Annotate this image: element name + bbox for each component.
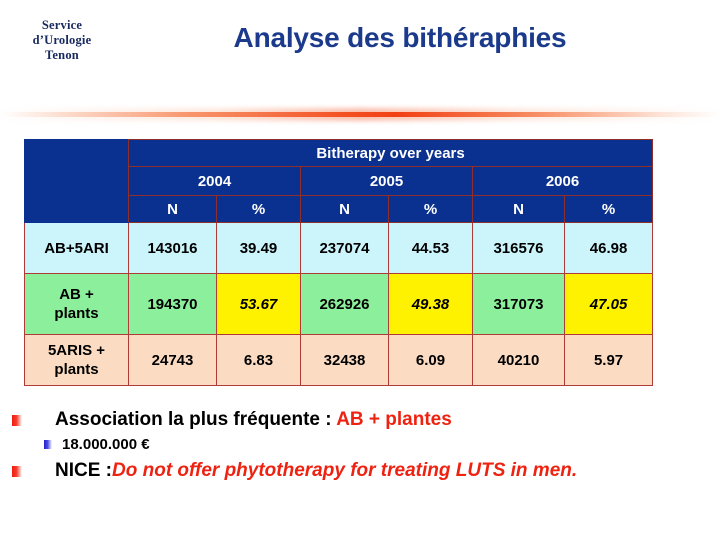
bullet-list: Association la plus fréquente : AB + pla… bbox=[0, 408, 720, 483]
row-label-ab-plants: AB + plants bbox=[25, 274, 129, 335]
bullet-text-association-plain: Association la plus fréquente : bbox=[55, 409, 336, 430]
cell-5arisplants-2004-n: 24743 bbox=[129, 335, 217, 386]
bullet-square-icon bbox=[12, 415, 22, 426]
cell-abplants-2004-pct: 53.67 bbox=[217, 274, 301, 335]
cell-ab5ari-2006-pct: 46.98 bbox=[565, 223, 653, 274]
list-item: 18.000.000 € bbox=[44, 435, 720, 454]
row-label-line-1: AB + bbox=[25, 285, 128, 304]
slide-header: Service d’Urologie Tenon Analyse des bit… bbox=[0, 0, 720, 96]
logo-line-2: d’Urologie bbox=[12, 33, 112, 48]
bullet-text-nice-plain: NICE : bbox=[55, 460, 112, 481]
bullet-text-nice-accent: Do not offer phytotherapy for treating L… bbox=[112, 460, 577, 481]
cell-5arisplants-2006-pct: 5.97 bbox=[565, 335, 653, 386]
row-label-line-2: plants bbox=[25, 304, 128, 323]
cell-abplants-2005-pct: 49.38 bbox=[389, 274, 473, 335]
table-header-year-2005: 2005 bbox=[301, 167, 473, 196]
cell-ab5ari-2004-pct: 39.49 bbox=[217, 223, 301, 274]
cell-5arisplants-2004-pct: 6.83 bbox=[217, 335, 301, 386]
table-header-main-row: Bitherapy over years bbox=[25, 140, 653, 167]
logo-line-1: Service bbox=[12, 18, 112, 33]
cell-5arisplants-2006-n: 40210 bbox=[473, 335, 565, 386]
table-subheader-2004-pct: % bbox=[217, 196, 301, 223]
cell-abplants-2006-n: 317073 bbox=[473, 274, 565, 335]
bullet-text-association-accent: AB + plantes bbox=[336, 409, 452, 430]
bullet-text-amount: 18.000.000 € bbox=[62, 435, 150, 454]
organization-logo: Service d’Urologie Tenon bbox=[12, 18, 112, 63]
table-row: AB + plants 194370 53.67 262926 49.38 31… bbox=[25, 274, 653, 335]
cell-ab5ari-2005-n: 237074 bbox=[301, 223, 389, 274]
cell-5arisplants-2005-pct: 6.09 bbox=[389, 335, 473, 386]
table-header-year-2004: 2004 bbox=[129, 167, 301, 196]
page-title: Analyse des bithéraphies bbox=[120, 22, 680, 54]
bitherapy-table: Bitherapy over years 2004 2005 2006 N % … bbox=[24, 139, 653, 386]
bullet-square-icon bbox=[12, 466, 22, 477]
bullet-square-sub-icon bbox=[44, 440, 52, 449]
cell-5arisplants-2005-n: 32438 bbox=[301, 335, 389, 386]
row-label-line-2: plants bbox=[25, 360, 128, 379]
header-divider bbox=[0, 112, 720, 117]
table-subheader-2004-n: N bbox=[129, 196, 217, 223]
row-label-line-1: 5ARIS + bbox=[25, 341, 128, 360]
table-subheader-2006-pct: % bbox=[565, 196, 653, 223]
cell-abplants-2006-pct: 47.05 bbox=[565, 274, 653, 335]
row-label-ab-5ari: AB+5ARI bbox=[25, 223, 129, 274]
list-item: Association la plus fréquente : AB + pla… bbox=[12, 408, 720, 432]
table-row: 5ARIS + plants 24743 6.83 32438 6.09 402… bbox=[25, 335, 653, 386]
row-label-5aris-plants: 5ARIS + plants bbox=[25, 335, 129, 386]
cell-abplants-2004-n: 194370 bbox=[129, 274, 217, 335]
bullet-text-association: Association la plus fréquente : AB + pla… bbox=[55, 408, 452, 432]
table-corner-cell bbox=[25, 140, 129, 223]
table-row: AB+5ARI 143016 39.49 237074 44.53 316576… bbox=[25, 223, 653, 274]
table-header-title: Bitherapy over years bbox=[129, 140, 653, 167]
cell-abplants-2005-n: 262926 bbox=[301, 274, 389, 335]
cell-ab5ari-2005-pct: 44.53 bbox=[389, 223, 473, 274]
bullet-text-nice: NICE :Do not offer phytotherapy for trea… bbox=[55, 459, 577, 483]
cell-ab5ari-2006-n: 316576 bbox=[473, 223, 565, 274]
table-header-year-2006: 2006 bbox=[473, 167, 653, 196]
table-subheader-2005-pct: % bbox=[389, 196, 473, 223]
logo-line-3: Tenon bbox=[12, 48, 112, 63]
cell-ab5ari-2004-n: 143016 bbox=[129, 223, 217, 274]
list-item: NICE :Do not offer phytotherapy for trea… bbox=[12, 459, 720, 483]
table-subheader-2005-n: N bbox=[301, 196, 389, 223]
table-subheader-2006-n: N bbox=[473, 196, 565, 223]
